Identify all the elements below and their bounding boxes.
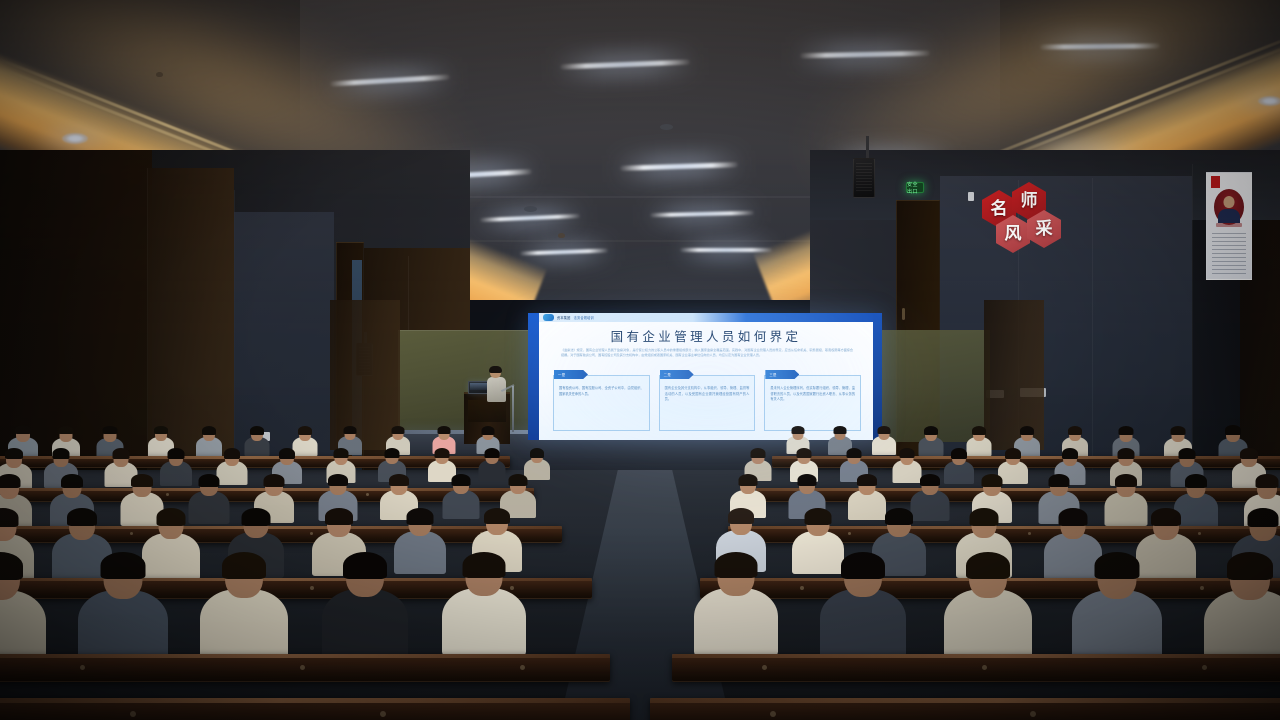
audience-member [78,552,168,662]
linear-ceiling-light [680,248,772,252]
slide-body-paragraph: 《监察法》规定，国有企业管理人员属于监察对象，是行使公权力的公职人员中的重要组成… [561,348,853,358]
recessed-downlight [1258,96,1280,106]
linear-ceiling-light [480,214,580,222]
poster-portrait-body [1218,209,1240,223]
audience-member [244,425,269,456]
slide-logo-secondary: 法务合规培训 [574,315,594,320]
poster-portrait-head [1224,196,1235,208]
exit-sign-label: 安全出口 [907,181,923,195]
wall-mounted-loudspeaker [853,158,875,198]
audience-member [322,552,408,658]
audience-member [442,552,526,656]
poster-name-bar [1216,223,1242,227]
recessed-downlight [62,133,88,144]
audience-member [820,552,906,658]
linear-ceiling-light [650,211,754,218]
poster-portrait-oval [1214,189,1244,225]
slide-logo-primary: 资本集团 [557,315,571,320]
exit-sign: 安全出口 [906,182,924,193]
linear-ceiling-light [560,60,690,70]
banner-ming-shi-feng-cai: 名 师 风 采 [982,182,1072,262]
linear-ceiling-light [620,162,738,171]
audience-member [1072,552,1162,662]
fire-sprinkler [156,72,163,77]
instructor-profile-poster [1206,172,1252,280]
slide-logo: 资本集团 法务合规培训 [543,314,594,321]
slide-box-tag: 一是 [554,370,588,379]
presenter-hair [489,366,502,373]
wall-sensor [968,192,974,201]
audience-member [944,552,1032,660]
door-handle[interactable] [902,308,905,320]
linear-ceiling-light [330,74,450,86]
audience-member [0,552,46,664]
audience [0,400,1280,720]
linear-ceiling-light [800,51,930,59]
auditorium-scene: 安全出口 名 师 风 采 [0,0,1280,720]
bench-row-foreground [650,698,1280,720]
presenter-at-podium [487,367,506,401]
bench-row [0,654,610,682]
smoke-detector [660,124,673,130]
speaker-mount-arm-right [866,136,869,158]
audience-member [694,552,778,656]
slide-box-tag: 二是 [660,370,694,379]
audience-member [200,552,288,660]
audience-member [1204,552,1280,664]
bench-row [672,654,1280,682]
poster-text-lines [1212,233,1246,277]
slide-box-text: 国有独资公司、国有控股公司、全资子公司中，由党组织、国家机关任命的人员。 [559,386,644,397]
smoke-detector [524,206,537,212]
audience-member [918,425,943,456]
linear-ceiling-light [1040,43,1160,49]
bench-row-foreground [0,698,630,720]
fire-sprinkler [558,233,565,238]
poster-red-tag [1211,176,1220,188]
linear-ceiling-light [520,248,608,255]
slide-box-tag: 三是 [765,370,799,379]
slide-title: 国有企业管理人员如何界定 [539,326,873,345]
slide-logo-mark [543,314,554,321]
